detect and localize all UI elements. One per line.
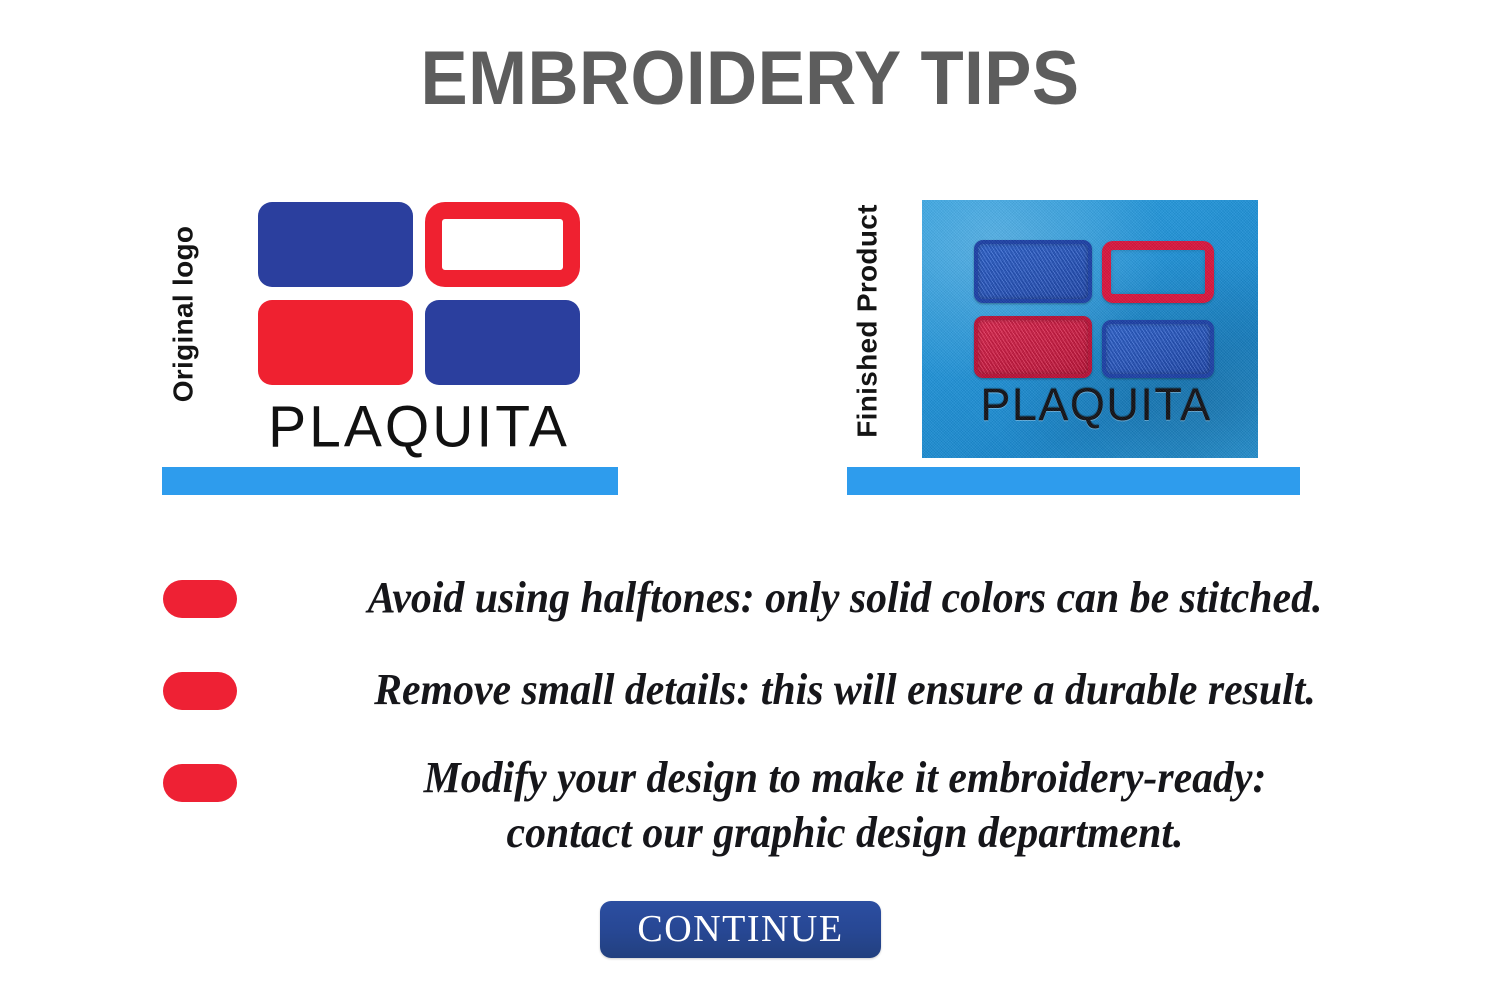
red-pill-bullet-icon [163, 764, 237, 802]
original-logo-underline-bar [162, 467, 618, 495]
finished-product-panel: Finished Product PLAQUITA [845, 180, 1315, 510]
original-logo-wordmark: PLAQUITA [258, 397, 580, 456]
page-title: EMBROIDERY TIPS [53, 38, 1448, 120]
finished-product-side-label: Finished Product [845, 180, 891, 465]
tips-list: Avoid using halftones: only solid colors… [0, 560, 1500, 872]
tip-item-2-line-1: Remove small details: this will ensure a… [280, 662, 1411, 717]
tip-item-2-text: Remove small details: this will ensure a… [280, 662, 1411, 717]
logo-tile-top-left-blue [258, 202, 413, 287]
patch-tile-top-right-red-outline [1102, 241, 1214, 303]
logo-tile-bottom-right-blue [425, 300, 580, 385]
patch-wordmark: PLAQUITA [974, 382, 1218, 428]
comparison-section: Original logo PLAQUITA Finished Product [0, 180, 1500, 510]
logo-tile-top-right-red-outline [425, 202, 580, 287]
tip-item-3-line-2: contact our graphic design department. [280, 805, 1411, 860]
tip-item-1-text: Avoid using halftones: only solid colors… [280, 570, 1411, 625]
finished-product-underline-bar [847, 467, 1300, 495]
patch-tile-top-left-blue [974, 240, 1092, 303]
patch-tile-grid [974, 240, 1214, 384]
logo-tile-grid [258, 202, 580, 387]
original-logo-panel: Original logo PLAQUITA [160, 180, 630, 510]
tip-item-3-line-1: Modify your design to make it embroidery… [280, 750, 1411, 805]
tip-item-3-text: Modify your design to make it embroidery… [280, 750, 1411, 860]
tip-item-1: Avoid using halftones: only solid colors… [0, 560, 1500, 650]
tip-item-3: Modify your design to make it embroidery… [0, 742, 1500, 872]
patch-tile-bottom-right-blue [1102, 320, 1214, 378]
logo-tile-bottom-left-red [258, 300, 413, 385]
patch-tile-bottom-left-red [974, 316, 1092, 378]
tip-item-1-line-1: Avoid using halftones: only solid colors… [280, 570, 1411, 625]
original-logo-side-label-text: Original logo [167, 226, 199, 403]
original-logo-artwork: PLAQUITA [258, 202, 580, 452]
original-logo-side-label: Original logo [160, 180, 206, 465]
embroidered-patch-photo: PLAQUITA [922, 200, 1258, 458]
tip-item-2: Remove small details: this will ensure a… [0, 650, 1500, 742]
continue-button[interactable]: CONTINUE [600, 901, 881, 958]
red-pill-bullet-icon [163, 672, 237, 710]
finished-product-side-label-text: Finished Product [852, 204, 884, 437]
red-pill-bullet-icon [163, 580, 237, 618]
